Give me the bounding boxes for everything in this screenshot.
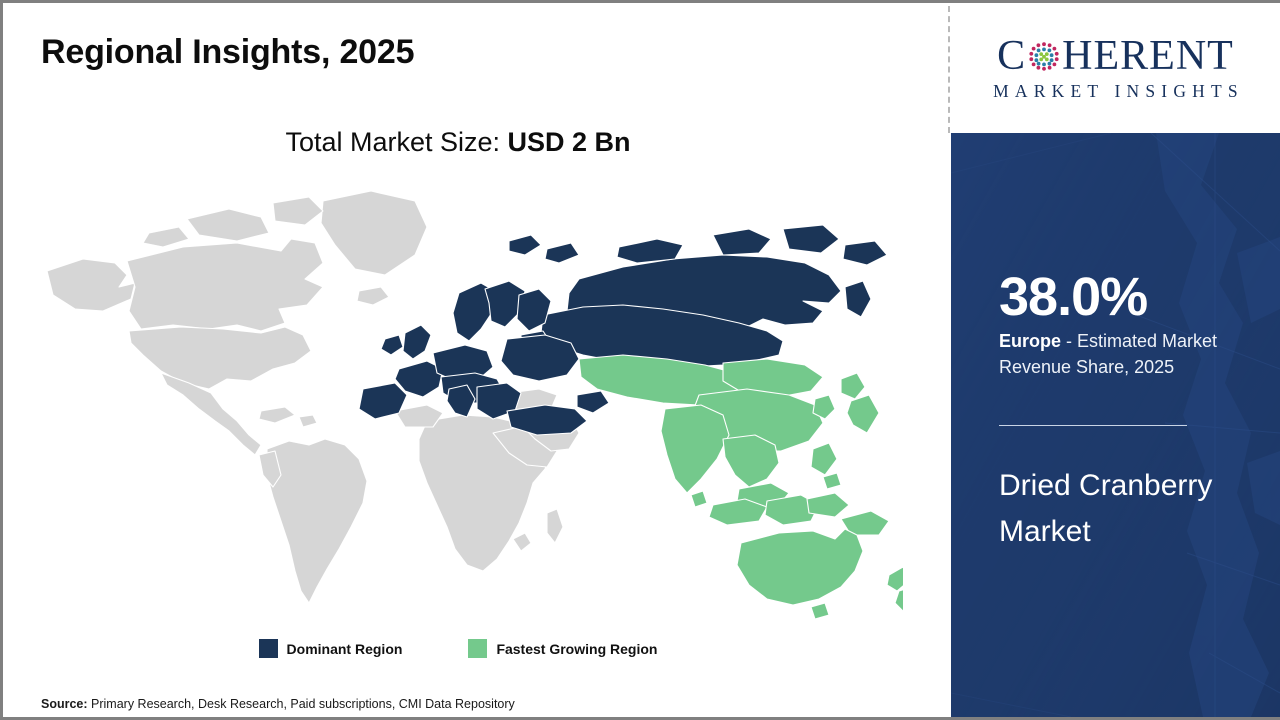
square-swatch-icon — [468, 639, 487, 658]
market-size-prefix: Total Market Size: — [285, 127, 507, 157]
source-note: Source: Primary Research, Desk Research,… — [41, 697, 515, 711]
logo: C — [951, 3, 1280, 133]
source-label: Source: — [41, 697, 88, 711]
square-swatch-icon — [259, 639, 278, 658]
map-legend: Dominant Region Fastest Growing Region — [3, 639, 913, 658]
legend-item-fastest-growing: Fastest Growing Region — [468, 639, 657, 658]
total-market-size: Total Market Size: USD 2 Bn — [3, 127, 913, 158]
legend-label-fastest-growing: Fastest Growing Region — [496, 641, 657, 657]
share-description: Europe - Estimated Market Revenue Share,… — [999, 328, 1249, 380]
dotted-globe-icon — [1027, 39, 1061, 73]
market-name: Dried Cranberry Market — [999, 463, 1229, 555]
infographic-page: Regional Insights, 2025 Total Market Siz… — [0, 0, 1280, 720]
share-value: 38.0% — [999, 270, 1147, 324]
legend-label-dominant: Dominant Region — [287, 641, 403, 657]
share-region: Europe — [999, 331, 1061, 351]
left-content-pane: Regional Insights, 2025 Total Market Siz… — [3, 3, 951, 717]
logo-brand-part1: C — [997, 35, 1026, 77]
world-map-svg — [23, 183, 903, 623]
world-map — [23, 183, 903, 623]
page-title: Regional Insights, 2025 — [41, 33, 414, 72]
info-panel: 38.0% Europe - Estimated Market Revenue … — [951, 133, 1280, 717]
logo-brand-part2: HERENT — [1062, 35, 1234, 77]
vertical-divider — [948, 6, 950, 133]
map-region-fastest-growing — [579, 355, 903, 619]
source-text: Primary Research, Desk Research, Paid su… — [88, 697, 515, 711]
legend-item-dominant: Dominant Region — [259, 639, 403, 658]
logo-tagline: MARKET INSIGHTS — [987, 81, 1244, 102]
panel-divider — [999, 425, 1187, 426]
market-size-value: USD 2 Bn — [508, 127, 631, 157]
panel-content: 38.0% Europe - Estimated Market Revenue … — [951, 133, 1280, 717]
logo-wordmark: C — [997, 35, 1234, 77]
